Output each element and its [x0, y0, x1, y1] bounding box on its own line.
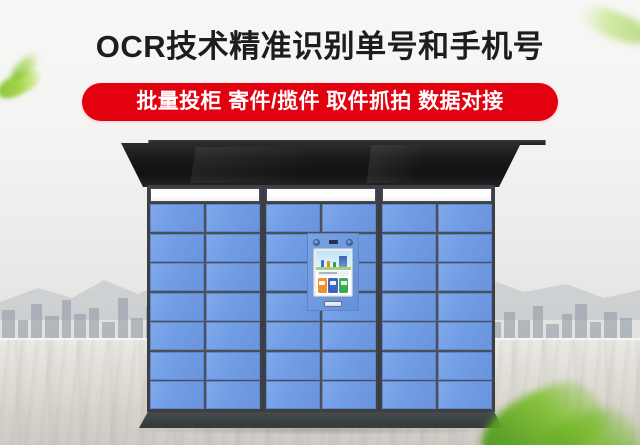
locker-door[interactable] [150, 352, 204, 380]
locker-door[interactable] [150, 263, 204, 291]
locker-door[interactable] [438, 263, 492, 291]
page-title: OCR技术精准识别单号和手机号 [0, 27, 640, 67]
signage-strip-center [266, 188, 376, 202]
locker-door[interactable] [438, 352, 492, 380]
canopy-highlight-1 [190, 147, 308, 183]
locker-door[interactable] [382, 263, 436, 291]
locker-door[interactable] [382, 293, 436, 321]
locker-bay-left [147, 185, 263, 412]
locker-door[interactable] [150, 381, 204, 409]
locker-door[interactable] [206, 322, 260, 350]
locker-door[interactable] [322, 322, 376, 350]
locker-door[interactable] [206, 204, 260, 232]
locker-door[interactable] [438, 293, 492, 321]
locker-door-grid-left [150, 204, 260, 409]
camera-row [313, 238, 353, 246]
locker-door[interactable] [266, 204, 320, 232]
locker-door[interactable] [382, 204, 436, 232]
signage-strip-left [150, 188, 260, 202]
camera-lens-icon [313, 239, 320, 246]
locker-door[interactable] [206, 381, 260, 409]
smart-locker-cabinet [147, 185, 495, 418]
locker-door[interactable] [150, 234, 204, 262]
locker-door[interactable] [322, 204, 376, 232]
cabinet-ground-shadow [125, 425, 517, 435]
signage-strip-right [382, 188, 492, 202]
screen-hero-illustration [316, 251, 351, 270]
canopy-roof [121, 143, 521, 187]
locker-bay-right [379, 185, 495, 412]
locker-door[interactable] [382, 352, 436, 380]
screen-action-tiles [316, 277, 351, 295]
screen-notice-bar [318, 271, 349, 276]
screen-tile-pickup[interactable] [328, 278, 337, 293]
locker-door[interactable] [206, 234, 260, 262]
canopy-highlight-2 [367, 145, 424, 183]
locker-door[interactable] [150, 293, 204, 321]
locker-door[interactable] [438, 234, 492, 262]
locker-door[interactable] [206, 293, 260, 321]
scanner-bar-icon [329, 240, 338, 244]
locker-door[interactable] [438, 381, 492, 409]
locker-door-grid-right [382, 204, 492, 409]
locker-door[interactable] [382, 322, 436, 350]
locker-door[interactable] [206, 352, 260, 380]
locker-door[interactable] [266, 352, 320, 380]
locker-door[interactable] [382, 234, 436, 262]
feature-banner: 批量投柜 寄件/揽件 取件抓拍 数据对接 [82, 83, 558, 121]
locker-door[interactable] [322, 352, 376, 380]
operator-console[interactable] [307, 233, 359, 311]
locker-door[interactable] [382, 381, 436, 409]
locker-door[interactable] [150, 322, 204, 350]
card-slot-icon [324, 301, 342, 307]
screen-hero-ground [316, 267, 351, 270]
locker-door[interactable] [266, 381, 320, 409]
locker-door[interactable] [438, 322, 492, 350]
touchscreen-bezel[interactable] [313, 248, 353, 297]
locker-door[interactable] [438, 204, 492, 232]
locker-door[interactable] [150, 204, 204, 232]
feature-banner-label: 批量投柜 寄件/揽件 取件抓拍 数据对接 [136, 90, 503, 114]
locker-door[interactable] [266, 322, 320, 350]
locker-door[interactable] [206, 263, 260, 291]
locker-door[interactable] [322, 381, 376, 409]
screen-tile-send[interactable] [318, 278, 327, 293]
touchscreen-display[interactable] [316, 251, 351, 295]
camera-lens-icon [346, 239, 353, 246]
promo-poster: OCR技术精准识别单号和手机号 批量投柜 寄件/揽件 取件抓拍 数据对接 [0, 0, 640, 445]
screen-tile-manage[interactable] [339, 278, 348, 293]
